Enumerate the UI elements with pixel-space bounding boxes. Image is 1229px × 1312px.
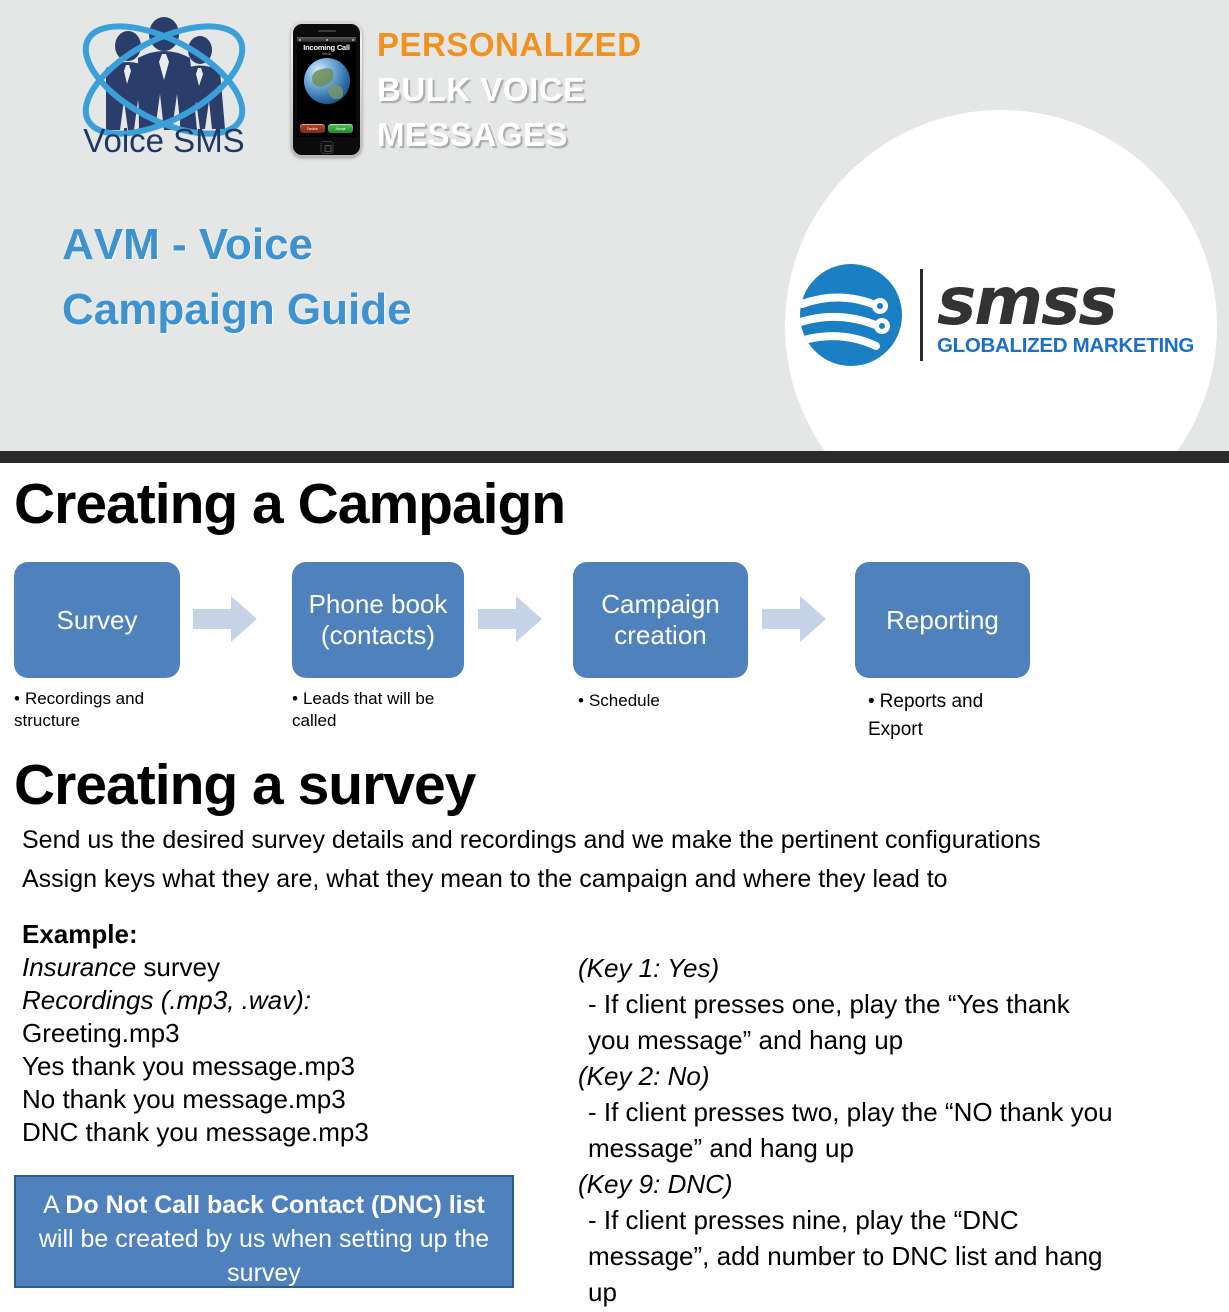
flow-bullet-reporting: •Reports and Export	[868, 688, 1043, 744]
survey-paragraph-2: Assign keys what they are, what they mea…	[22, 865, 948, 894]
flow-arrow-3-icon	[762, 596, 826, 642]
page-title-line-2: Campaign Guide	[62, 277, 622, 342]
voice-sms-logo-label: Voice SMS	[58, 122, 270, 160]
dnc-callout: A Do Not Call back Contact (DNC) list wi…	[14, 1175, 514, 1288]
flow-bullet-survey: •Recordings and structure	[14, 688, 189, 732]
example-file-2: Yes thank you message.mp3	[22, 1050, 562, 1083]
survey-paragraph-1: Send us the desired survey details and r…	[22, 826, 1041, 855]
key-1-title: (Key 1: Yes)	[578, 950, 1118, 986]
smss-divider	[920, 269, 923, 361]
smss-wordmark: smss	[937, 272, 1200, 332]
page-title-line-1: AVM - Voice	[62, 212, 622, 277]
bullet-dot-icon: •	[578, 691, 584, 710]
example-file-1: Greeting.mp3	[22, 1017, 562, 1050]
tagline-line-3: MESSAGES	[377, 112, 777, 157]
flow-bullet-phone-book: •Leads that will be called	[292, 688, 472, 732]
bullet-dot-icon: •	[14, 689, 20, 708]
example-file-4: DNC thank you message.mp3	[22, 1116, 562, 1149]
example-recordings-label: Recordings (.mp3, .wav):	[22, 984, 562, 1017]
slide-page: Voice SMS Incoming Call mobile Decline A…	[0, 0, 1229, 1312]
globe-icon	[304, 58, 350, 104]
home-button-icon	[320, 141, 333, 154]
example-block: Example: Insurance survey Recordings (.m…	[22, 918, 562, 1149]
tagline-line-2: BULK VOICE	[377, 67, 777, 112]
dnc-callout-rest: will be created by us when setting up th…	[39, 1225, 489, 1287]
key-1-description: - If client presses one, play the “Yes t…	[578, 986, 1118, 1058]
page-title-flipped-a: A	[62, 212, 94, 277]
smss-tagline: GLOBALIZED MARKETING	[937, 334, 1200, 358]
header-divider-bar	[0, 451, 1229, 463]
heading-creating-a-campaign: Creating a Campaign	[14, 471, 565, 537]
flow-box-phone-book[interactable]: Phone book (contacts)	[292, 562, 464, 678]
smss-logo: smss GLOBALIZED MARKETING	[800, 260, 1200, 370]
accept-call-button: Accept	[328, 124, 353, 133]
heading-creating-a-survey: Creating a survey	[14, 752, 475, 818]
key-2-title: (Key 2: No)	[578, 1058, 1118, 1094]
flow-box-survey[interactable]: Survey	[14, 562, 180, 678]
page-title-line-1-rest: VM - Voice	[94, 220, 313, 269]
key-9-description: - If client presses nine, play the “DNC …	[578, 1202, 1118, 1310]
example-label: Example:	[22, 918, 562, 951]
flow-arrow-2-icon	[478, 596, 542, 642]
flow-bullet-campaign-creation: •Schedule	[578, 690, 758, 712]
key-9-title: (Key 9: DNC)	[578, 1166, 1118, 1202]
incoming-call-phone-icon: Incoming Call mobile Decline Accept	[291, 22, 362, 157]
key-2-description: - If client presses two, play the “NO th…	[578, 1094, 1118, 1166]
key-assignments-list: (Key 1: Yes) - If client presses one, pl…	[578, 950, 1118, 1310]
dnc-callout-bold: Do Not Call back Contact (DNC) list	[65, 1191, 484, 1219]
flow-box-reporting[interactable]: Reporting	[855, 562, 1030, 678]
flow-arrow-1-icon	[193, 596, 257, 642]
example-survey-name: Insurance survey	[22, 951, 562, 984]
bullet-dot-icon: •	[868, 691, 875, 712]
decline-call-button: Decline	[300, 124, 325, 133]
example-file-3: No thank you message.mp3	[22, 1083, 562, 1116]
flow-box-campaign-creation[interactable]: Campaign creation	[573, 562, 748, 678]
tagline-line-1: PERSONALIZED	[377, 22, 777, 67]
bullet-dot-icon: •	[292, 689, 298, 708]
phone-screen-subtitle: mobile	[297, 52, 356, 56]
phone-screen-title: Incoming Call	[297, 43, 356, 52]
page-title: AVM - Voice Campaign Guide	[62, 212, 622, 342]
tagline: PERSONALIZED BULK VOICE MESSAGES	[377, 22, 777, 157]
slide-header: Voice SMS Incoming Call mobile Decline A…	[0, 0, 1229, 451]
smss-orb-icon	[800, 264, 902, 366]
